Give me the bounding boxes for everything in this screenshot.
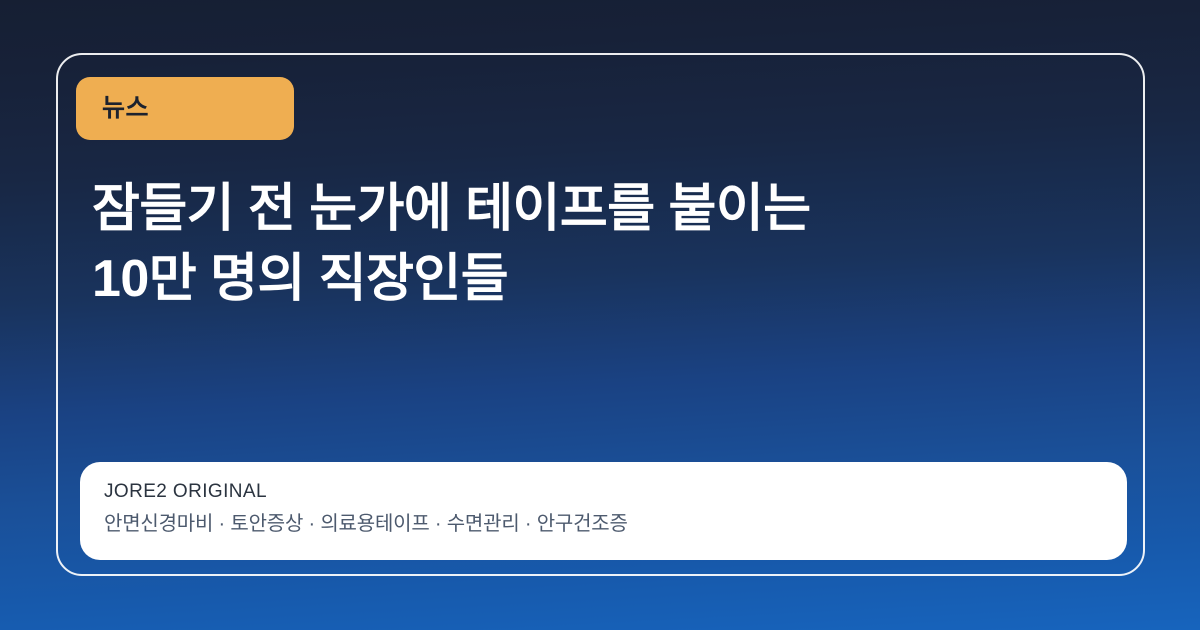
- category-badge[interactable]: 뉴스: [76, 77, 294, 140]
- footer-info-panel: JORE2 ORIGINAL 안면신경마비 · 토안증상 · 의료용테이프 · …: [80, 462, 1127, 560]
- headline-title: 잠들기 전 눈가에 테이프를 붙이는 10만 명의 직장인들: [92, 175, 1072, 314]
- outlined-content-card: 뉴스 잠들기 전 눈가에 테이프를 붙이는 10만 명의 직장인들 JORE2 …: [56, 53, 1145, 576]
- brand-label: JORE2 ORIGINAL: [104, 479, 1103, 505]
- category-badge-label: 뉴스: [102, 96, 149, 121]
- news-card-poster: 뉴스 잠들기 전 눈가에 테이프를 붙이는 10만 명의 직장인들 JORE2 …: [0, 0, 1200, 630]
- topic-tags-list: 안면신경마비 · 토안증상 · 의료용테이프 · 수면관리 · 안구건조증: [104, 511, 1103, 538]
